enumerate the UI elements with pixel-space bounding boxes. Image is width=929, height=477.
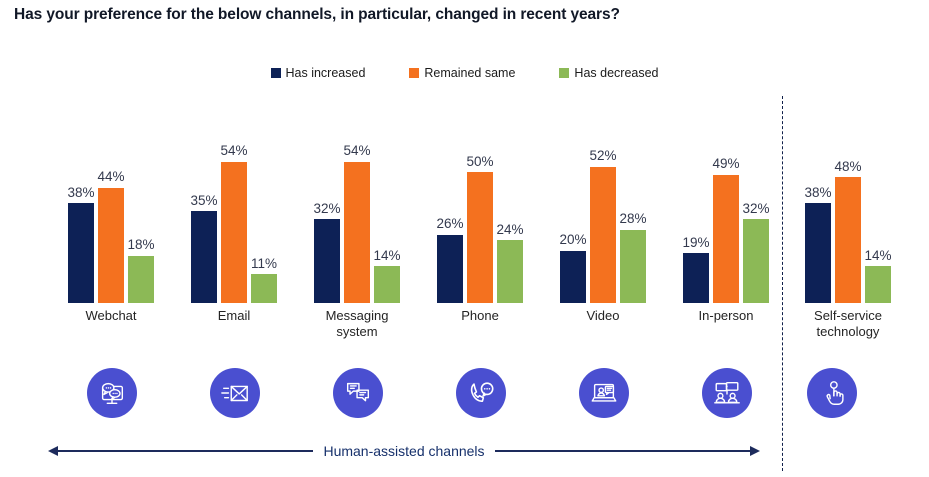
bar-rect (437, 235, 463, 303)
bar-value-label: 35% (190, 194, 217, 208)
category-label-email: Email (177, 308, 291, 324)
bar-value-label: 19% (682, 236, 709, 250)
bar-value-label: 14% (864, 249, 891, 263)
category-label-video: Video (546, 308, 660, 324)
bar-video-has-increased[interactable]: 20% (560, 93, 586, 303)
bar-rect (497, 240, 523, 303)
category-label-self-service-technology: Self-service technology (791, 308, 905, 340)
arrow-line-left (58, 450, 313, 452)
bar-rect (590, 167, 616, 303)
category-label-line1: Webchat (54, 308, 168, 324)
bar-rect (191, 211, 217, 303)
bar-in-person-remained-same[interactable]: 49% (713, 93, 739, 303)
bar-webchat-remained-same[interactable]: 44% (98, 93, 124, 303)
category-label-line1: Messaging (300, 308, 414, 324)
bar-value-label: 18% (127, 238, 154, 252)
bar-value-label: 54% (343, 144, 370, 158)
messaging-icon[interactable] (333, 368, 383, 418)
webchat-icon[interactable] (87, 368, 137, 418)
bar-group-bars: 20% 52% 28% (560, 93, 646, 303)
bar-value-label: 26% (436, 217, 463, 231)
category-label-line1: Email (177, 308, 291, 324)
bar-rect (314, 219, 340, 303)
bar-value-label: 11% (251, 257, 277, 271)
bar-value-label: 54% (220, 144, 247, 158)
bar-value-label: 28% (619, 212, 646, 226)
bar-video-remained-same[interactable]: 52% (590, 93, 616, 303)
bar-value-label: 44% (97, 170, 124, 184)
arrow-line-right (495, 450, 750, 452)
in-person-icon[interactable] (702, 368, 752, 418)
category-label-webchat: Webchat (54, 308, 168, 324)
bar-self-service-technology-has-increased[interactable]: 38% (805, 93, 831, 303)
bar-rect (467, 172, 493, 303)
bar-rect (98, 188, 124, 303)
bar-self-service-technology-remained-same[interactable]: 48% (835, 93, 861, 303)
bar-rect (620, 230, 646, 303)
arrow-right-head-icon (750, 446, 760, 456)
arrow-label: Human-assisted channels (313, 443, 494, 459)
bar-messaging-system-remained-same[interactable]: 54% (344, 93, 370, 303)
category-label-messaging-system: Messaging system (300, 308, 414, 340)
bar-in-person-has-increased[interactable]: 19% (683, 93, 709, 303)
bar-rect (344, 162, 370, 303)
bar-group-in-person: 19% 49% 32% In-person (683, 93, 769, 303)
bar-rect (221, 162, 247, 303)
bar-rect (743, 219, 769, 303)
bar-email-remained-same[interactable]: 54% (221, 93, 247, 303)
bar-webchat-has-increased[interactable]: 38% (68, 93, 94, 303)
bar-group-bars: 38% 44% 18% (68, 93, 154, 303)
arrow-left-head-icon (48, 446, 58, 456)
bar-rect (865, 266, 891, 303)
self-service-icon[interactable] (807, 368, 857, 418)
bar-group-self-service-technology: 38% 48% 14% Self-service technology (805, 93, 891, 303)
bar-phone-has-increased[interactable]: 26% (437, 93, 463, 303)
bar-rect (251, 274, 277, 303)
bar-value-label: 32% (742, 202, 769, 216)
bar-group-bars: 35% 54% 11% (191, 93, 277, 303)
category-label-in-person: In-person (669, 308, 783, 324)
bar-value-label: 38% (804, 186, 831, 200)
phone-icon[interactable] (456, 368, 506, 418)
bar-value-label: 32% (313, 202, 340, 216)
bar-rect (68, 203, 94, 303)
bar-value-label: 20% (559, 233, 586, 247)
bar-rect (835, 177, 861, 303)
bar-group-phone: 26% 50% 24% Phone (437, 93, 523, 303)
bar-email-has-decreased[interactable]: 11% (251, 93, 277, 303)
bar-rect (560, 251, 586, 303)
bar-messaging-system-has-increased[interactable]: 32% (314, 93, 340, 303)
bar-rect (713, 175, 739, 303)
bar-webchat-has-decreased[interactable]: 18% (128, 93, 154, 303)
bar-email-has-increased[interactable]: 35% (191, 93, 217, 303)
email-icon[interactable] (210, 368, 260, 418)
bar-chart-plot-area: 38% 44% 18% Webchat 35% 54% (0, 0, 929, 477)
bar-rect (374, 266, 400, 303)
category-label-phone: Phone (423, 308, 537, 324)
bar-value-label: 14% (373, 249, 400, 263)
bar-self-service-technology-has-decreased[interactable]: 14% (865, 93, 891, 303)
category-label-line1: In-person (669, 308, 783, 324)
bar-group-bars: 19% 49% 32% (683, 93, 769, 303)
category-label-line1: Video (546, 308, 660, 324)
bar-value-label: 49% (712, 157, 739, 171)
bar-group-bars: 26% 50% 24% (437, 93, 523, 303)
bar-rect (683, 253, 709, 303)
bar-group-video: 20% 52% 28% Video (560, 93, 646, 303)
bar-value-label: 48% (834, 160, 861, 174)
section-divider (782, 96, 783, 471)
bar-value-label: 24% (496, 223, 523, 237)
bar-value-label: 50% (466, 155, 493, 169)
bar-value-label: 38% (67, 186, 94, 200)
category-label-line1: Phone (423, 308, 537, 324)
bar-messaging-system-has-decreased[interactable]: 14% (374, 93, 400, 303)
bar-group-messaging-system: 32% 54% 14% Messaging system (314, 93, 400, 303)
bar-group-bars: 38% 48% 14% (805, 93, 891, 303)
bar-value-label: 52% (589, 149, 616, 163)
bar-phone-has-decreased[interactable]: 24% (497, 93, 523, 303)
bar-video-has-decreased[interactable]: 28% (620, 93, 646, 303)
category-label-line2: system (300, 324, 414, 340)
bar-rect (805, 203, 831, 303)
category-label-line1: Self-service (791, 308, 905, 324)
bar-in-person-has-decreased[interactable]: 32% (743, 93, 769, 303)
bar-phone-remained-same[interactable]: 50% (467, 93, 493, 303)
category-label-line2: technology (791, 324, 905, 340)
bar-rect (128, 256, 154, 303)
video-icon[interactable] (579, 368, 629, 418)
bar-group-bars: 32% 54% 14% (314, 93, 400, 303)
human-assisted-channels-annotation: Human-assisted channels (48, 440, 760, 462)
bar-group-webchat: 38% 44% 18% Webchat (68, 93, 154, 303)
bar-group-email: 35% 54% 11% Email (191, 93, 277, 303)
